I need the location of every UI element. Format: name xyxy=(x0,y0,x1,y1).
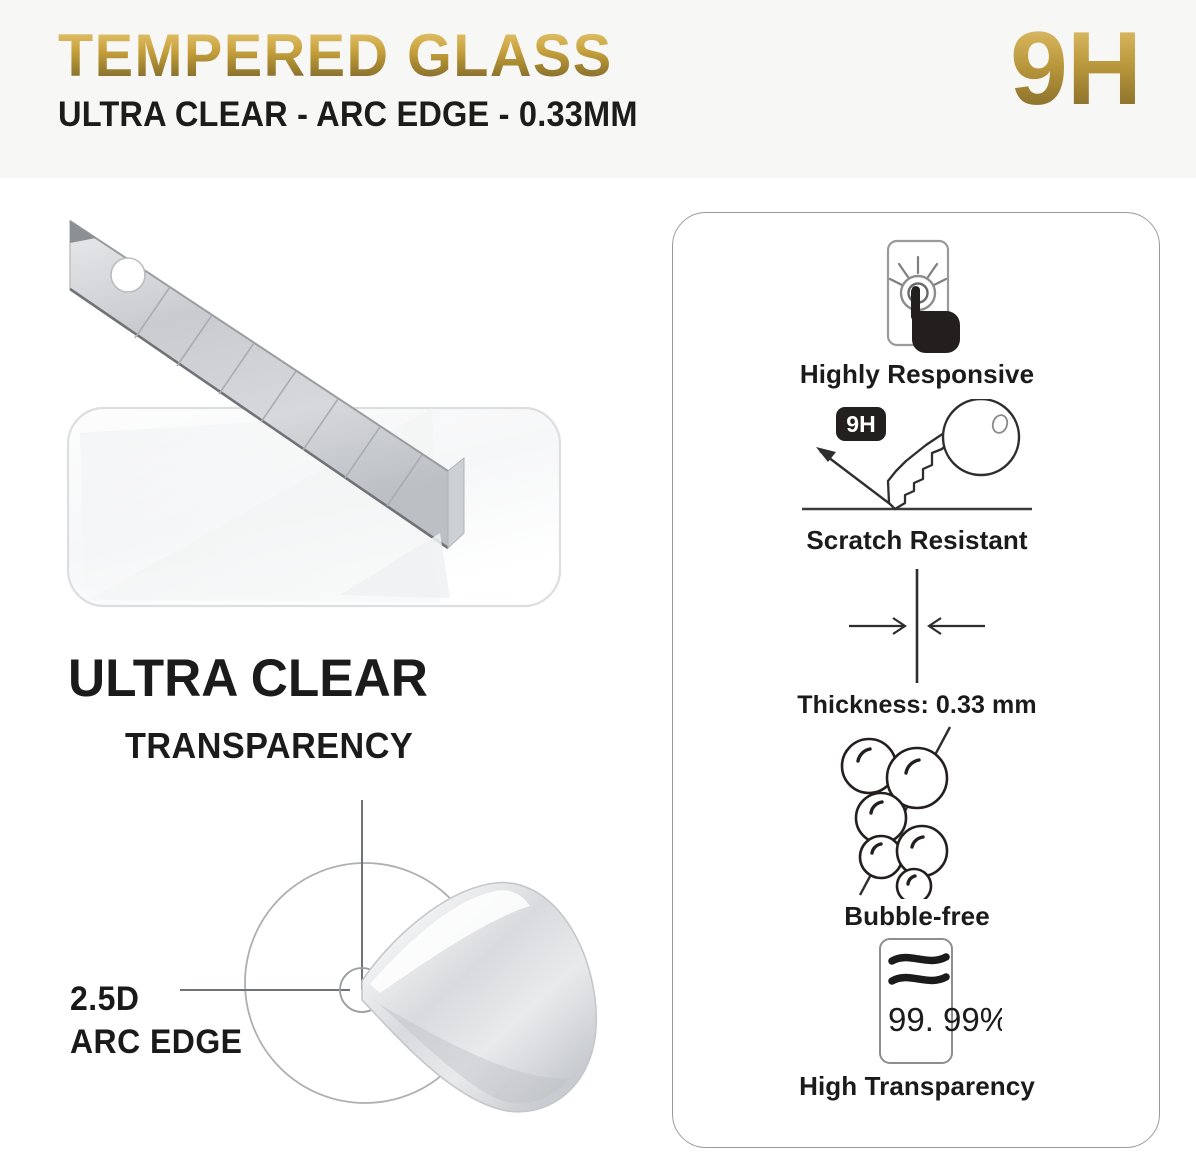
transparency-subheading: TRANSPARENCY xyxy=(125,725,413,767)
feature-label-scratch-resistant: Scratch Resistant xyxy=(673,525,1161,556)
feature-thickness: Thickness: 0.33 mm xyxy=(673,565,1161,720)
utility-blade-on-glass-illustration xyxy=(40,203,640,623)
header-banner: TEMPERED GLASS ULTRA CLEAR - ARC EDGE - … xyxy=(0,0,1196,178)
bubbles-icon xyxy=(822,723,1012,899)
feature-label-thickness: Thickness: 0.33 mm xyxy=(673,691,1161,720)
feature-bubble-free: Bubble-free xyxy=(673,723,1161,932)
badge-9h-small-text: 9H xyxy=(846,411,875,437)
feature-label-high-transparency: High Transparency xyxy=(673,1071,1161,1102)
hardness-badge-9h: 9H xyxy=(1010,17,1141,121)
feature-scratch-resistant: 9H Scratch Resistant xyxy=(673,399,1161,556)
touch-phone-icon xyxy=(842,235,992,357)
product-title: TEMPERED GLASS xyxy=(58,26,656,86)
feature-high-transparency: 99. 99% High Transparency xyxy=(673,935,1161,1102)
key-scratch-icon: 9H xyxy=(792,399,1042,523)
arc-edge-label-line1: 2.5D xyxy=(70,978,242,1021)
curved-edge-solid xyxy=(362,883,596,1112)
arc-edge-diagram xyxy=(40,778,640,1118)
feature-label-highly-responsive: Highly Responsive xyxy=(673,359,1161,390)
transparency-percent-value: 99. 99% xyxy=(888,1001,1002,1038)
thickness-caliper-icon xyxy=(807,565,1027,689)
arc-edge-label-line2: ARC EDGE xyxy=(70,1021,242,1064)
transparency-phone-icon: 99. 99% xyxy=(832,935,1002,1069)
arc-edge-label: 2.5D ARC EDGE xyxy=(70,978,242,1063)
left-showcase-panel: ULTRA CLEAR TRANSPARENCY xyxy=(0,178,660,1161)
feature-highly-responsive: Highly Responsive xyxy=(673,235,1161,390)
features-panel: Highly Responsive 9H Scratch Resistant xyxy=(672,212,1160,1148)
badge-9h-small: 9H xyxy=(836,407,886,441)
ultra-clear-heading: ULTRA CLEAR xyxy=(68,648,428,709)
product-subtitle: ULTRA CLEAR - ARC EDGE - 0.33MM xyxy=(58,95,638,135)
header-title-group: TEMPERED GLASS ULTRA CLEAR - ARC EDGE - … xyxy=(58,26,681,135)
feature-label-bubble-free: Bubble-free xyxy=(673,901,1161,932)
